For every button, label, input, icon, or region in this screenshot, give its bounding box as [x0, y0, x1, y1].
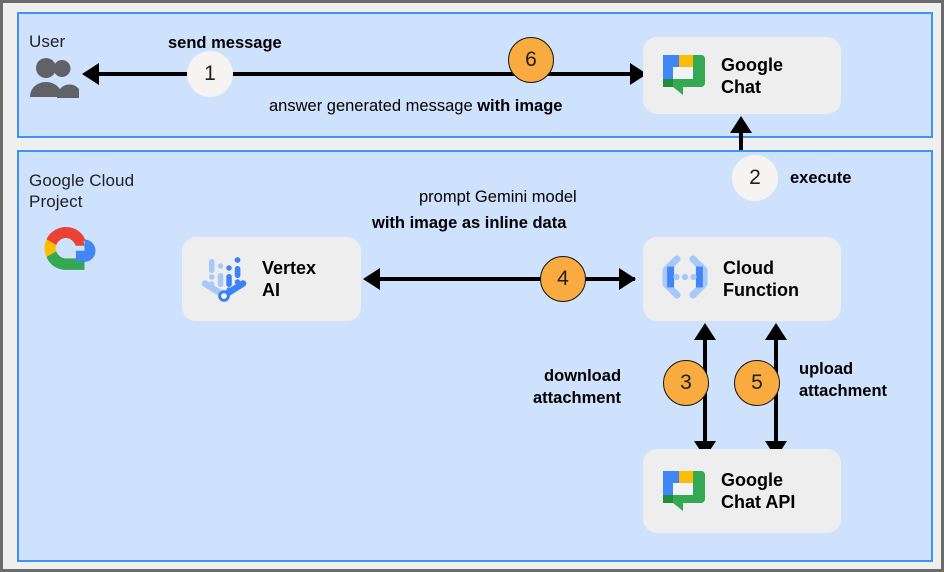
google-chat-icon	[657, 46, 711, 105]
node-cloud-function[interactable]: Cloud Function	[643, 237, 841, 321]
edge-vertex-function-arrow-right	[619, 268, 636, 290]
google-chat-icon	[657, 462, 711, 521]
caption-answer-bold: with image	[477, 97, 562, 115]
node-google-chat-api-label: Google Chat API	[721, 469, 795, 513]
panel-user-title: User	[29, 31, 65, 52]
step-badge-6: 6	[508, 37, 554, 83]
caption-prompt-regular: prompt Gemini model	[419, 186, 577, 208]
node-google-chat[interactable]: Google Chat	[643, 37, 841, 114]
step-badge-3: 3	[663, 360, 709, 406]
caption-send-message: send message	[168, 32, 282, 54]
step-badge-5: 5	[734, 360, 780, 406]
step-badge-1: 1	[187, 51, 233, 97]
diagram-canvas: User send message answer generated messa…	[0, 0, 944, 572]
step-badge-4: 4	[540, 256, 586, 302]
panel-gcp-title: Google Cloud Project	[29, 170, 134, 212]
edge-user-chat-arrow-left	[82, 63, 99, 85]
caption-execute: execute	[790, 167, 851, 189]
node-google-chat-api[interactable]: Google Chat API	[643, 449, 841, 533]
node-cloud-function-label: Cloud Function	[723, 257, 799, 301]
node-vertex-ai-label: Vertex AI	[262, 257, 316, 301]
edge-vertex-function-line	[380, 277, 635, 281]
cloud-function-icon	[657, 249, 713, 310]
vertex-ai-icon	[196, 249, 252, 310]
caption-upload-attachment: upload attachment	[799, 358, 887, 402]
caption-answer-regular: answer generated message	[269, 97, 477, 115]
edge-download-arrow-up	[694, 323, 716, 340]
user-people-icon	[27, 57, 79, 104]
edge-chat-function-arrow-up	[730, 116, 752, 133]
step-badge-2: 2	[732, 155, 778, 201]
node-vertex-ai[interactable]: Vertex AI	[182, 237, 361, 321]
node-google-chat-label: Google Chat	[721, 54, 783, 98]
caption-download-attachment: download attachment	[533, 365, 621, 409]
edge-vertex-function-arrow-left	[363, 268, 380, 290]
edge-user-chat-line	[99, 72, 647, 76]
edge-upload-arrow-up	[765, 323, 787, 340]
caption-answer-message: answer generated message with image	[269, 95, 562, 117]
caption-prompt-bold: with image as inline data	[372, 212, 566, 234]
google-cloud-icon	[33, 221, 99, 280]
